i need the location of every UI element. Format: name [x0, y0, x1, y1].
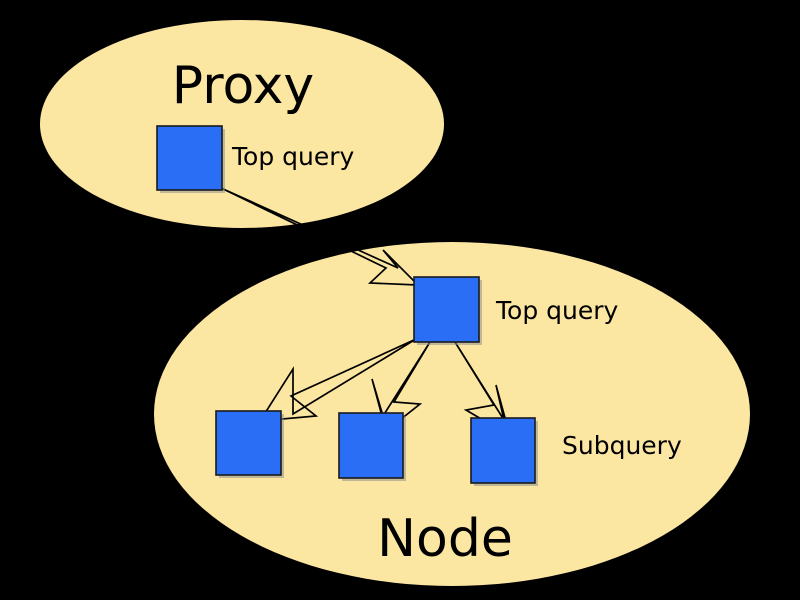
diagram-canvas: Proxy Node	[0, 0, 800, 600]
box-node-top-query[interactable]	[414, 277, 482, 345]
node-title: Node	[377, 509, 513, 569]
box-node-subquery-3[interactable]	[471, 418, 538, 486]
box-node-subquery-1[interactable]	[216, 411, 284, 478]
proxy-top-query-box[interactable]	[157, 126, 222, 190]
node-subquery-2-box[interactable]	[339, 413, 403, 478]
node-subquery-3-box[interactable]	[471, 418, 535, 483]
node-top-query-label: Top query	[495, 296, 619, 325]
node-top-query-box[interactable]	[414, 277, 479, 342]
proxy-title: Proxy	[172, 56, 314, 116]
diagram-svg: Proxy Node	[0, 0, 800, 600]
box-node-subquery-2[interactable]	[339, 413, 406, 481]
node-subquery-1-box[interactable]	[216, 411, 281, 475]
node-subquery-label: Subquery	[562, 431, 682, 460]
proxy-top-query-label: Top query	[231, 142, 355, 171]
box-proxy-top-query[interactable]	[157, 126, 225, 193]
